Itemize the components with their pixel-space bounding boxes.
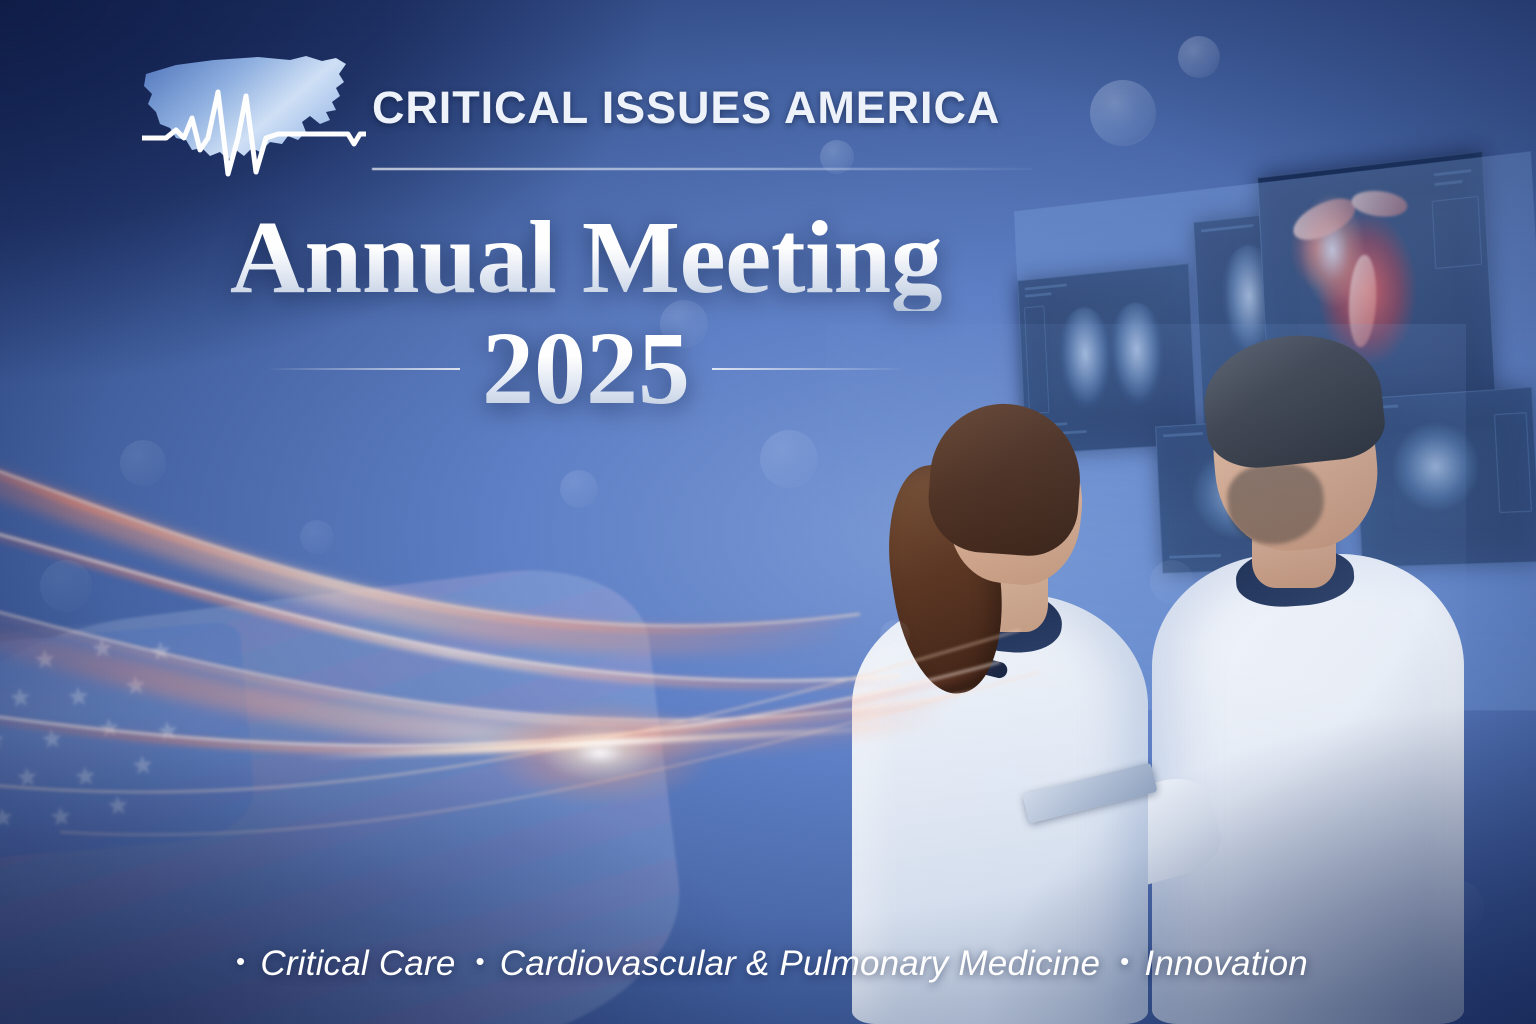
headline-title: Annual Meeting bbox=[196, 205, 976, 311]
topic-label-innovation: Innovation bbox=[1144, 944, 1314, 984]
headline-block: Annual Meeting 2025 bbox=[196, 205, 976, 421]
headline-year-row: 2025 bbox=[196, 317, 976, 421]
year-rule-left bbox=[270, 368, 460, 370]
year-rule-right bbox=[712, 368, 902, 370]
topic-label-cardiovascular-pulmonary: Cardiovascular & Pulmonary Medicine bbox=[500, 944, 1106, 984]
logo-divider bbox=[372, 168, 1032, 170]
annual-meeting-poster: ★ ★ ★ ★ ★ ★ ★ ★ ★ ★ ★ ★ ★ ★ ★ ★ ★ ★ ★ ★ … bbox=[0, 0, 1536, 1024]
organization-name: CRITICAL ISSUES AMERICA bbox=[372, 82, 1000, 134]
topics-list: • Critical Care • Cardiovascular & Pulmo… bbox=[0, 944, 1536, 984]
topic-bullet-1: • bbox=[461, 946, 499, 977]
topic-bullet-2: • bbox=[1106, 946, 1144, 977]
topic-label-critical-care: Critical Care bbox=[260, 944, 461, 984]
topic-bullet-0: • bbox=[222, 946, 260, 977]
ecg-heartbeat-icon bbox=[142, 78, 366, 178]
logo-lockup: CRITICAL ISSUES AMERICA bbox=[140, 52, 990, 182]
headline-year: 2025 bbox=[460, 317, 712, 421]
